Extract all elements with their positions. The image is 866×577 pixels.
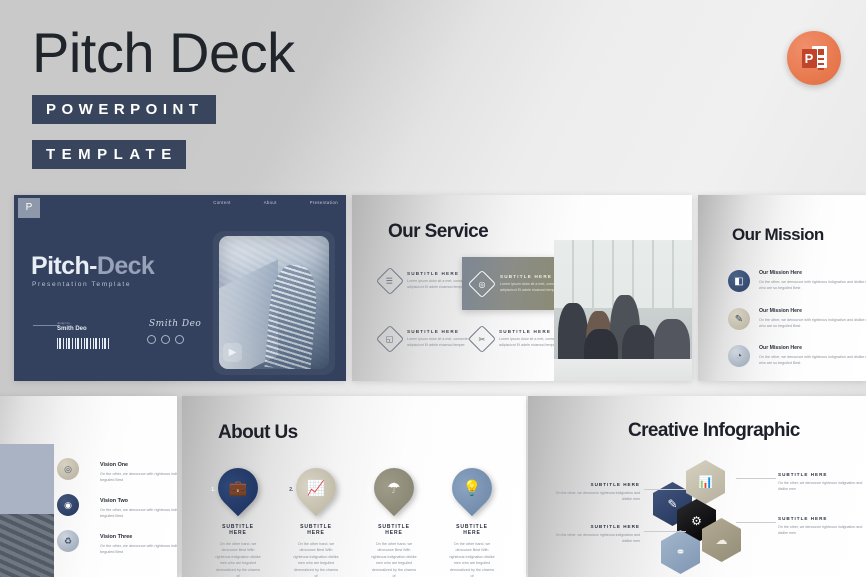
infographic-heading-1: SUBTITLE HERE: [548, 482, 640, 487]
infographic-callout-4: SUBTITLE HERE On the other, we denounce …: [778, 516, 866, 536]
vision-heading-3: Vision Three: [100, 534, 177, 540]
service-heading-2: SUBTITLE HERE: [500, 274, 562, 279]
vision-item-3: Vision Three On the other, we denounce w…: [100, 534, 177, 556]
pencil-icon: ✎: [728, 308, 750, 330]
slide-our-service[interactable]: Our Service ☰ SUBTITLE HERE Lorem ipsum …: [352, 195, 692, 381]
about-number-1: 1.: [211, 487, 215, 493]
social-icon-3[interactable]: [175, 335, 184, 344]
slide-nav-item-presentation[interactable]: Presentation: [310, 200, 338, 205]
infographic-body-1: On the other, we denounce righteous indi…: [548, 490, 640, 502]
leader-line-1: [644, 489, 686, 490]
presentation-board-glyph: ◧: [734, 276, 743, 287]
briefcase-glyph: 💼: [229, 479, 248, 497]
recycle-glyph: ♻: [64, 536, 72, 547]
briefcase-icon: 💼 1.: [210, 460, 267, 517]
slide-title-preview[interactable]: P Content About Presentation Pitch-Deck …: [14, 195, 346, 381]
badge-powerpoint: POWERPOINT: [32, 95, 216, 124]
about-heading-4: SUBTITLE HERE: [448, 524, 496, 536]
infographic-callout-3: SUBTITLE HERE On the other, we denounce …: [778, 472, 866, 492]
about-number-3: 3.: [367, 487, 371, 493]
mission-heading-3: Our Mission Here: [759, 345, 866, 351]
about-body-3: On the other hand, we denounce Best With…: [370, 541, 418, 577]
badge-row: POWERPOINT: [32, 95, 295, 124]
powerpoint-letter: P: [802, 49, 817, 68]
infographic-body-3: On the other, we denounce righteous indi…: [778, 480, 866, 492]
vision-body-1: On the other, we denounce with righteous…: [100, 471, 177, 484]
slide-our-mission[interactable]: Our Mission ◧ Our Mission Here On the ot…: [698, 195, 866, 381]
slide-nav-item-content[interactable]: Content: [213, 200, 230, 205]
slide-title-about-us: About Us: [218, 422, 298, 444]
about-body-2: On the other hand, we denounce Best With…: [292, 541, 340, 577]
tools-glyph: ✂: [479, 334, 486, 343]
infographic-heading-4: SUBTITLE HERE: [778, 516, 866, 521]
badge-row-2: TEMPLATE: [32, 134, 295, 169]
mission-heading-1: Our Mission Here: [759, 270, 866, 276]
link-glyph: ⚭: [675, 545, 685, 559]
lightbulb-glyph: 💡: [463, 479, 482, 497]
design-by-label: design by...: [57, 321, 72, 325]
globe-glyph: ◔: [736, 351, 742, 362]
mission-body-3: On the other, we denounce with righteous…: [759, 354, 866, 367]
social-icon-1[interactable]: [147, 335, 156, 344]
recycle-icon: ♻: [57, 530, 79, 552]
chart-icon: ◱: [376, 325, 404, 353]
social-icon-2[interactable]: [161, 335, 170, 344]
divider-rule: [33, 325, 59, 326]
infographic-callout-2: SUBTITLE HERE On the other, we denounce …: [548, 524, 640, 544]
slide-hero-title-a: Pitch-: [31, 252, 97, 280]
mission-item-3: ◔ Our Mission Here On the other, we deno…: [728, 345, 866, 367]
leader-line-4: [736, 522, 776, 523]
lightbulb-icon: ◎: [57, 458, 79, 480]
umbrella-icon: ☂ 3.: [366, 460, 423, 517]
chart-glyph: ◱: [386, 335, 394, 344]
about-heading-1: SUBTITLE HERE: [214, 524, 262, 536]
signature-text: Smith Deo: [149, 319, 201, 329]
bar-chart-glyph: 📊: [698, 475, 713, 489]
leader-line-3: [736, 478, 776, 479]
about-item-3: ☂ 3. SUBTITLE HERE On the other hand, we…: [370, 468, 418, 577]
bar-chart-glyph: 📈: [307, 479, 326, 497]
preview-canvas: Pitch Deck POWERPOINT TEMPLATE P P Conte…: [0, 0, 866, 577]
barcode-icon: [57, 338, 109, 349]
slide-creative-infographic[interactable]: Creative Infographic ✎ 📊 ⚙ ☁ ⚭ SUBTITLE …: [528, 396, 866, 577]
infographic-body-2: On the other, we denounce righteous indi…: [548, 532, 640, 544]
lightbulb-icon: ◎: [468, 269, 496, 297]
slide-hero-title-b: Deck: [97, 252, 154, 280]
social-icons: [147, 335, 184, 344]
bar-chart-icon: 📈 2.: [288, 460, 345, 517]
lightbulb-glyph: ◎: [479, 279, 486, 288]
mission-body-2: On the other, we denounce with righteous…: [759, 317, 866, 330]
vision-item-1: Vision One On the other, we denounce wit…: [100, 462, 177, 484]
vision-heading-1: Vision One: [100, 462, 177, 468]
target-icon: ◉: [57, 494, 79, 516]
infographic-heading-2: SUBTITLE HERE: [548, 524, 640, 529]
cloud-glyph: ☁: [716, 533, 728, 547]
about-body-1: On the other hand, we denounce Best With…: [214, 541, 262, 577]
about-number-4: 4.: [445, 487, 449, 493]
powerpoint-icon[interactable]: P: [787, 31, 841, 85]
slide-title-creative-infographic: Creative Infographic: [628, 420, 800, 442]
slide-nav-item-about[interactable]: About: [264, 200, 277, 205]
edit-document-glyph: ✎: [667, 497, 677, 511]
slide-title-our-service: Our Service: [388, 221, 488, 243]
team-meeting-photo: [554, 240, 692, 381]
cart-icon: ☰: [376, 267, 404, 295]
about-item-2: 📈 2. SUBTITLE HERE On the other hand, we…: [292, 468, 340, 577]
slide-logo-badge: P: [18, 198, 40, 218]
presentation-board-icon: ◧: [728, 270, 750, 292]
badge-template: TEMPLATE: [32, 140, 186, 169]
infographic-callout-1: SUBTITLE HERE On the other, we denounce …: [548, 482, 640, 502]
gear-glyph: ⚙: [691, 514, 702, 528]
hexagon-cluster: ✎ 📊 ⚙ ☁ ⚭: [653, 458, 743, 556]
leader-line-2: [644, 531, 686, 532]
tools-icon: ✂: [468, 325, 496, 353]
mission-item-1: ◧ Our Mission Here On the other, we deno…: [728, 270, 866, 292]
infographic-heading-3: SUBTITLE HERE: [778, 472, 866, 477]
about-heading-3: SUBTITLE HERE: [370, 524, 418, 536]
mission-heading-2: Our Mission Here: [759, 308, 866, 314]
hero-heading-block: Pitch Deck POWERPOINT TEMPLATE: [32, 22, 295, 169]
author-name: Smith Deo: [57, 326, 87, 332]
cart-glyph: ☰: [386, 276, 393, 285]
pencil-glyph: ✎: [735, 314, 743, 325]
lightbulb-glyph: ◎: [64, 464, 72, 475]
about-item-4: 💡 4. SUBTITLE HERE On the other hand, we…: [448, 468, 496, 577]
slide-hero-subtitle: Presentation Template: [32, 281, 131, 288]
slide-hero-title: Pitch-Deck: [31, 252, 154, 281]
page-title: Pitch Deck: [32, 22, 295, 85]
globe-icon: ◔: [728, 345, 750, 367]
mission-item-2: ✎ Our Mission Here On the other, we deno…: [728, 308, 866, 330]
slide-title-our-mission: Our Mission: [732, 225, 824, 245]
umbrella-glyph: ☂: [387, 479, 400, 497]
target-glyph: ◉: [64, 500, 72, 511]
slide-vision[interactable]: ◎ ◉ ♻ Vision One On the other, we denoun…: [0, 396, 177, 577]
vision-photo: [0, 514, 54, 577]
about-number-2: 2.: [289, 487, 293, 493]
about-heading-2: SUBTITLE HERE: [292, 524, 340, 536]
vision-item-2: Vision Two On the other, we denounce wit…: [100, 498, 177, 520]
vision-body-2: On the other, we denounce with righteous…: [100, 507, 177, 520]
slide-nav: Content About Presentation: [213, 200, 338, 205]
mission-body-1: On the other, we denounce with righteous…: [759, 279, 866, 292]
vision-body-3: On the other, we denounce with righteous…: [100, 543, 177, 556]
lightbulb-icon: 💡 4.: [444, 460, 501, 517]
infographic-body-4: On the other, we denounce righteous indi…: [778, 524, 866, 536]
service-body-2: Lorem ipsum dolor sit a met, consecter a…: [500, 282, 562, 294]
desk: [554, 359, 692, 381]
about-body-4: On the other hand, we denounce Best With…: [448, 541, 496, 577]
slide-about-us[interactable]: About Us 💼 1. SUBTITLE HERE On the other…: [182, 396, 526, 577]
play-icon[interactable]: ▶: [223, 343, 242, 362]
about-item-1: 💼 1. SUBTITLE HERE On the other hand, we…: [214, 468, 262, 577]
powerpoint-glyph: P: [802, 46, 827, 70]
vision-heading-2: Vision Two: [100, 498, 177, 504]
